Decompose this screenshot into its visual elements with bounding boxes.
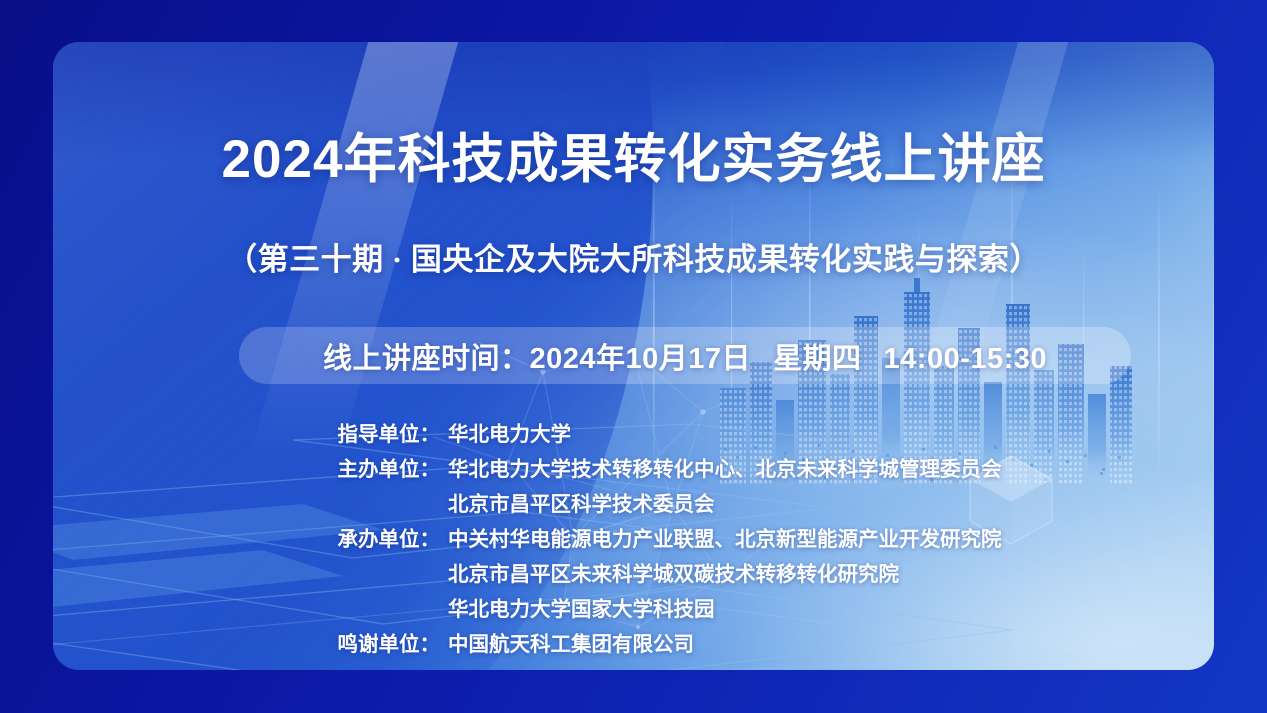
time-weekday: 星期四 bbox=[773, 343, 862, 375]
organization-row: 指导单位： 华北电力大学 bbox=[53, 417, 1214, 446]
organization-value: 华北电力大学技术转移转化中心、北京未来科学城管理委员会 bbox=[448, 452, 1002, 482]
organization-label: 鸣谢单位： bbox=[53, 627, 448, 657]
organization-row: 华北电力大学国家大学科技园 bbox=[53, 592, 1214, 621]
organization-label: 指导单位： bbox=[53, 417, 448, 447]
organization-row: 主办单位： 华北电力大学技术转移转化中心、北京未来科学城管理委员会 bbox=[53, 452, 1214, 481]
organization-row: 北京市昌平区未来科学城双碳技术转移转化研究院 bbox=[53, 557, 1214, 586]
poster-inner-panel: 2024年科技成果转化实务线上讲座 （第三十期 · 国央企及大院大所科技成果转化… bbox=[53, 42, 1214, 670]
time-range: 14:00-15:30 bbox=[884, 343, 1048, 375]
time-date: 2024年10月17日 bbox=[529, 343, 751, 375]
event-poster: 2024年科技成果转化实务线上讲座 （第三十期 · 国央企及大院大所科技成果转化… bbox=[0, 0, 1267, 713]
lecture-time-banner: 线上讲座时间：2024年10月17日星期四14:00-15:30 bbox=[239, 327, 1131, 384]
organization-label: 主办单位： bbox=[53, 452, 448, 482]
organization-value: 华北电力大学 bbox=[448, 417, 571, 447]
poster-title: 2024年科技成果转化实务线上讲座 bbox=[53, 130, 1214, 189]
organization-list: 指导单位： 华北电力大学 主办单位： 华北电力大学技术转移转化中心、北京未来科学… bbox=[53, 417, 1214, 662]
organization-row: 北京市昌平区科学技术委员会 bbox=[53, 487, 1214, 516]
organization-value: 北京市昌平区未来科学城双碳技术转移转化研究院 bbox=[448, 557, 899, 587]
organization-row: 承办单位： 中关村华电能源电力产业联盟、北京新型能源产业开发研究院 bbox=[53, 522, 1214, 551]
organization-value: 华北电力大学国家大学科技园 bbox=[448, 592, 715, 622]
poster-subtitle: （第三十期 · 国央企及大院大所科技成果转化实践与探索） bbox=[53, 234, 1214, 279]
organization-value: 北京市昌平区科学技术委员会 bbox=[448, 487, 715, 517]
organization-value: 中关村华电能源电力产业联盟、北京新型能源产业开发研究院 bbox=[448, 522, 1002, 552]
lecture-time-text: 线上讲座时间：2024年10月17日星期四14:00-15:30 bbox=[323, 335, 1047, 377]
organization-row: 鸣谢单位： 中国航天科工集团有限公司 bbox=[53, 627, 1214, 656]
organization-label: 承办单位： bbox=[53, 522, 448, 552]
organization-value: 中国航天科工集团有限公司 bbox=[448, 627, 694, 657]
poster-content: 2024年科技成果转化实务线上讲座 （第三十期 · 国央企及大院大所科技成果转化… bbox=[53, 42, 1214, 670]
time-label: 线上讲座时间： bbox=[323, 343, 530, 375]
